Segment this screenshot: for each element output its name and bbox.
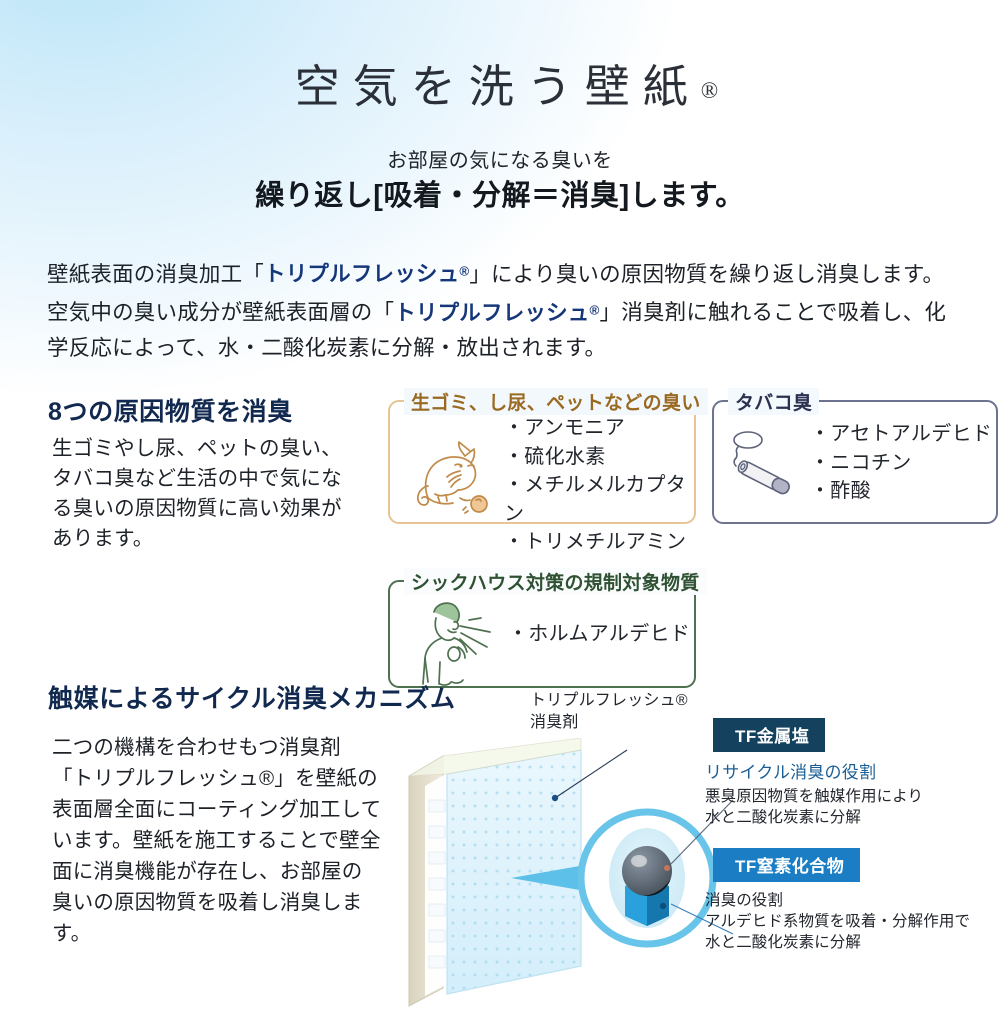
mechanism-diagram: トリプルフレッシュ® 消臭剤 TF金属塩 リサイクル消臭の役割 悪臭原因物質を触… xyxy=(395,690,1000,980)
list-item: ・メチルメルカプタン xyxy=(504,471,694,528)
odor-box-legend-tobacco: タバコ臭 xyxy=(728,388,819,415)
diagram-top-label-line1: トリプルフレッシュ® xyxy=(530,690,688,712)
wallpaper-cross-section-illustration xyxy=(395,738,735,1028)
section1-body: 生ゴミやし尿、ペットの臭い、タバコ臭など生活の中で気になる臭いの原因物質に高い効… xyxy=(52,434,362,554)
list-item: ・ニコチン xyxy=(810,449,992,478)
coughing-person-icon xyxy=(414,592,500,691)
callout-title-metal-salt: リサイクル消臭の役割 xyxy=(705,758,876,783)
brand-name-1-text: トリプルフレッシュ xyxy=(264,262,459,286)
odor-box-legend-sickhouse: シックハウス対策の規制対象物質 xyxy=(404,568,707,595)
infographic-page: 空気を洗う壁紙® お部屋の気になる臭いを 繰り返し[吸着・分解＝消臭]します。 … xyxy=(0,0,1000,1000)
callout-body-metal-salt: 悪臭原因物質を触媒作用により 水と二酸化炭素に分解 xyxy=(705,786,923,828)
page-title: 空気を洗う壁紙® xyxy=(0,50,1000,115)
brand-name-2: トリプルフレッシュ® xyxy=(394,301,599,325)
odor-source-box-sickhouse: シックハウス対策の規制対象物質 xyxy=(388,580,696,688)
lead-paragraph: 壁紙表面の消臭加工「トリプルフレッシュ®」により臭いの原因物質を繰り返し消臭しま… xyxy=(47,254,955,366)
callout-body-nitrogen-compound: 消臭の役割 アルデヒド系物質を吸着・分解作用で 水と二酸化炭素に分解 xyxy=(705,890,970,953)
list-item: ・トリメチルアミン xyxy=(504,528,694,557)
section1-heading: 8つの原因物質を消臭 xyxy=(48,392,293,428)
diagram-top-label-line2: 消臭剤 xyxy=(530,712,688,734)
registered-mark-2-icon: ® xyxy=(590,302,600,317)
section2-body: 二つの機構を合わせもつ消臭剤「トリプルフレッシュ®」を壁紙の表面層全面にコーティ… xyxy=(52,732,382,949)
odor-box-items-household: ・アンモニア ・硫化水素 ・メチルメルカプタン ・トリメチルアミン xyxy=(504,414,694,557)
diagram-top-label: トリプルフレッシュ® 消臭剤 xyxy=(530,690,688,734)
registered-trademark-icon: ® xyxy=(701,78,718,103)
subtitle-line-1: お部屋の気になる臭いを xyxy=(0,144,1000,173)
badge-tf-metal-salt: TF金属塩 xyxy=(713,718,825,752)
registered-mark-1-icon: ® xyxy=(459,264,469,279)
brand-name-1: トリプルフレッシュ® xyxy=(264,262,469,286)
cat-playing-icon xyxy=(398,424,502,521)
list-item: ・酢酸 xyxy=(810,477,992,506)
cigarette-icon xyxy=(724,426,804,507)
brand-name-2-text: トリプルフレッシュ xyxy=(394,301,589,325)
list-item: ・ホルムアルデヒド xyxy=(508,620,690,649)
odor-box-legend-household: 生ゴミ、し尿、ペットなどの臭い xyxy=(404,388,708,415)
odor-source-box-tobacco: タバコ臭 ・アセトアルデヒド ・ニコチン ・酢酸 xyxy=(712,400,998,524)
list-item: ・硫化水素 xyxy=(504,443,694,472)
list-item: ・アンモニア xyxy=(504,414,694,443)
list-item: ・アセトアルデヒド xyxy=(810,420,992,449)
odor-source-box-household: 生ゴミ、し尿、ペットなどの臭い xyxy=(388,400,696,524)
page-title-text: 空気を洗う壁紙 xyxy=(295,62,701,112)
subtitle-line-2: 繰り返し[吸着・分解＝消臭]します。 xyxy=(0,172,1000,214)
odor-box-items-sickhouse: ・ホルムアルデヒド xyxy=(508,620,690,649)
lead-part-a: 壁紙表面の消臭加工「 xyxy=(47,262,264,286)
badge-tf-nitrogen-compound: TF窒素化合物 xyxy=(713,848,860,882)
odor-box-items-tobacco: ・アセトアルデヒド ・ニコチン ・酢酸 xyxy=(810,420,992,506)
